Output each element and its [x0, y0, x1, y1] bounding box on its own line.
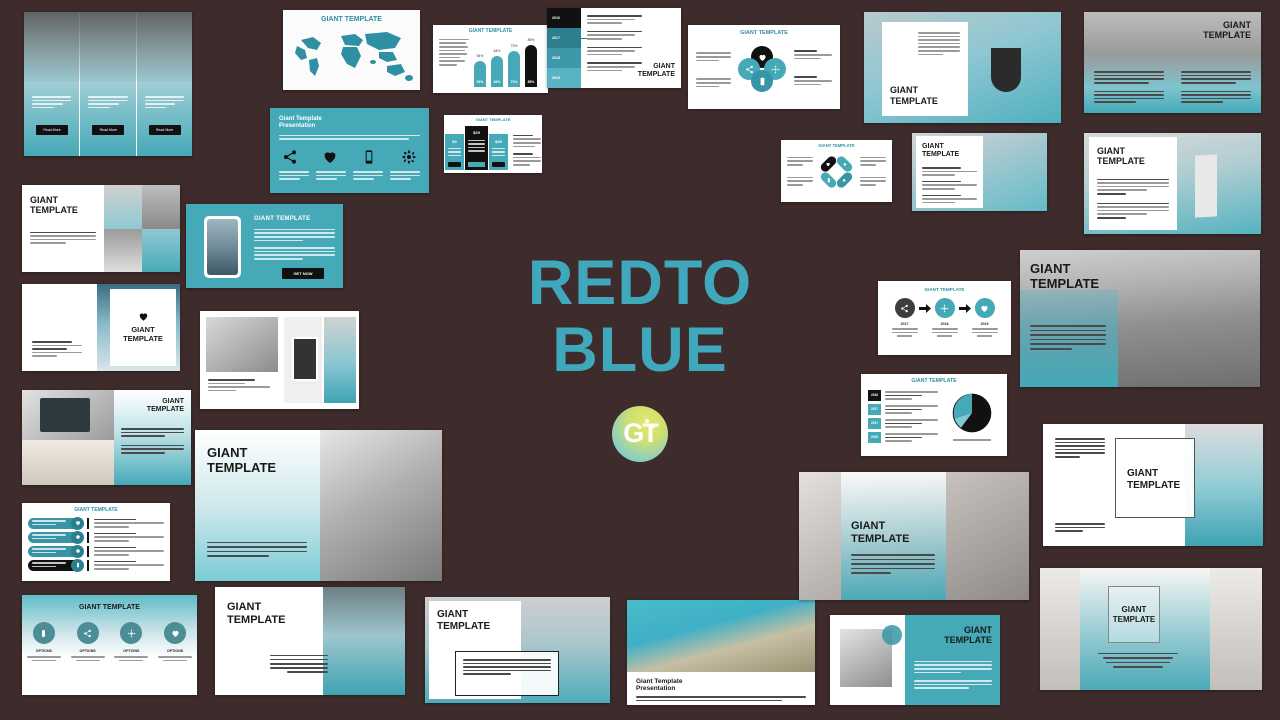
option-label: OPTIONS — [71, 649, 105, 653]
plan-button[interactable] — [492, 162, 505, 167]
slide-title-line1: GIANT — [1122, 605, 1147, 614]
legend-year: 2017 — [868, 418, 881, 429]
step-year: 2017 — [892, 322, 918, 326]
plan-price: $29 — [465, 130, 488, 135]
option-circle — [77, 622, 99, 644]
option-circle — [33, 622, 55, 644]
bar-item: 85% 85% — [525, 45, 537, 87]
bar-item: 54% 54% — [474, 61, 486, 87]
read-more-button[interactable]: Read More — [92, 125, 124, 135]
step-year: 2017 — [552, 36, 560, 40]
read-more-label: Read More — [100, 128, 117, 132]
slide-title-line2: TEMPLATE — [121, 406, 184, 414]
slide-x-diagram[interactable]: GIANT TEMPLATE — [781, 140, 892, 202]
slide-coast-photo[interactable]: GIANT TEMPLATE — [912, 133, 1047, 211]
gear-icon — [940, 304, 949, 313]
slide-title-line2: TEMPLATE — [1203, 30, 1251, 40]
slide-title-line1: GIANT — [227, 601, 285, 614]
option-circle — [120, 622, 142, 644]
gear-icon — [401, 149, 417, 165]
slide-title-line2: TEMPLATE — [227, 614, 285, 627]
hero-title-block: REDTO BLUE GT — [470, 250, 810, 462]
heart-icon — [758, 53, 767, 62]
heart-icon — [322, 149, 338, 165]
plan-button[interactable] — [468, 162, 485, 167]
option-label: OPTIONS — [27, 649, 61, 653]
heart-icon — [75, 520, 81, 526]
slide-title-line1: GIANT — [121, 398, 184, 406]
slide-title-line1: GIANT — [944, 625, 992, 635]
legend-year: 2017 — [868, 404, 881, 415]
slide-title-line2: TEMPLATE — [851, 533, 909, 546]
mobile-icon — [826, 177, 831, 182]
slide-swimmer-card[interactable]: GIANT TEMPLATE — [1043, 424, 1263, 546]
slide-title-line1: GIANT — [851, 520, 909, 533]
read-more-button[interactable]: Read More — [149, 125, 181, 135]
slide-title-line1: Giant Template — [279, 116, 420, 123]
slide-pie-chart[interactable]: GIANT TEMPLATE 2016 2017 2017 2018 — [861, 374, 1007, 456]
legend-year: 2016 — [868, 390, 881, 401]
slide-title-line1: GIANT — [922, 143, 977, 151]
slide-title: GIANT TEMPLATE — [878, 287, 1011, 292]
slide-title: GIANT TEMPLATE — [22, 595, 197, 612]
slide-iceberg[interactable]: GIANT TEMPLATE — [215, 587, 405, 695]
step-circle — [895, 298, 915, 318]
slide-title-line2: TEMPLATE — [207, 461, 276, 476]
slide-mountain-card[interactable]: GIANT TEMPLATE — [22, 284, 180, 371]
step-year: 2019 — [552, 76, 560, 80]
mobile-icon — [361, 149, 377, 165]
plan-price: $49 — [489, 139, 508, 144]
step-circle — [935, 298, 955, 318]
share-icon — [83, 629, 92, 638]
gear-icon — [771, 65, 780, 74]
pie-chart-icon — [949, 390, 995, 436]
slide-title-line2: Presentation — [279, 123, 420, 130]
slide-title-line2: TEMPLATE — [30, 205, 96, 215]
heart-icon — [138, 311, 149, 322]
read-more-button[interactable]: Read More — [36, 125, 68, 135]
slide-process-arrows[interactable]: GIANT TEMPLATE 2017 2018 — [878, 281, 1011, 355]
x-arm — [819, 170, 838, 189]
slide-world-map[interactable]: GIANT TEMPLATE — [283, 10, 420, 90]
gear-icon — [75, 534, 81, 540]
x-arm — [819, 154, 838, 173]
share-icon — [75, 548, 81, 554]
mobile-icon — [39, 629, 48, 638]
slide-title-line2: TEMPLATE — [890, 96, 938, 106]
slide-timeline-steps[interactable]: 2016 2017 2018 2019 GIANT TEMPLATE — [547, 8, 681, 88]
option-label: OPTIONS — [158, 649, 192, 653]
slide-tower-photo[interactable]: GIANT TEMPLATE — [1084, 133, 1261, 234]
plan-price: $9 — [445, 139, 464, 144]
slide-gallery-frames[interactable] — [200, 311, 359, 409]
arrow-right-icon — [919, 304, 931, 313]
option-label: OPTIONS — [114, 649, 148, 653]
share-icon — [900, 304, 909, 313]
slide-title: GIANT TEMPLATE — [444, 118, 542, 123]
read-more-label: Read More — [156, 128, 173, 132]
option-circle — [164, 622, 186, 644]
bar-item: 73% 73% — [508, 51, 520, 87]
slide-skyline-card[interactable]: GIANT TEMPLATE — [425, 597, 610, 703]
slide-title-line2: TEMPLATE — [1113, 615, 1156, 624]
legend-year: 2018 — [868, 432, 881, 443]
world-map-icon — [283, 26, 420, 86]
mobile-icon — [758, 77, 767, 86]
share-icon — [745, 65, 754, 74]
gear-icon — [842, 161, 847, 166]
slide-pricing-table[interactable]: GIANT TEMPLATE $9 $29 $49 — [444, 115, 542, 173]
heart-icon — [171, 629, 180, 638]
hero-line-2: BLUE — [470, 317, 810, 384]
slide-title-line1: GIANT — [1097, 146, 1169, 156]
arrow-right-icon — [959, 304, 971, 313]
slide-title-line2: TEMPLATE — [922, 151, 977, 159]
slide-title-line1: GIANT — [207, 446, 276, 461]
venn-circle — [751, 70, 773, 92]
slide-city-two-col[interactable]: GIANT TEMPLATE — [1084, 12, 1261, 113]
slide-title-line1: GIANT — [890, 85, 938, 95]
slide-title-line1: GIANT — [30, 195, 96, 205]
slide-four-icon-teal[interactable]: Giant Template Presentation — [270, 108, 429, 193]
heart-icon — [980, 304, 989, 313]
slide-title-line1: GIANT — [1030, 262, 1099, 277]
x-arm — [835, 170, 854, 189]
slide-title-line1: GIANT — [638, 63, 675, 71]
slide-photo-card-5[interactable]: GIANT TEMPLATE — [864, 12, 1061, 123]
bar-item: 64% 64% — [491, 56, 503, 87]
slide-venn-circles[interactable]: GIANT TEMPLATE — [688, 25, 840, 109]
step-year: 2018 — [552, 56, 560, 60]
slide-title-line2: TEMPLATE — [638, 71, 675, 79]
step-circle — [975, 298, 995, 318]
slide-title-line2: TEMPLATE — [944, 635, 992, 645]
slide-title-line1: Giant Template — [636, 678, 806, 685]
gear-icon — [127, 629, 136, 638]
slide-portrait-feature[interactable]: GIANT TEMPLATE — [195, 430, 442, 581]
slide-man-looking-up[interactable]: GIANT TEMPLATE — [799, 472, 1029, 600]
slide-title-line2: TEMPLATE — [123, 335, 163, 344]
get-now-label: GET NOW — [293, 271, 312, 276]
slide-title: GIANT TEMPLATE — [283, 16, 420, 24]
get-now-button[interactable]: GET NOW — [282, 268, 324, 279]
gt-logo: GT — [612, 406, 668, 462]
slide-binocular-photo[interactable]: Giant Template Presentation — [627, 600, 815, 705]
slide-bar-chart[interactable]: GIANT TEMPLATE 54% 54% 64% 64% 73% 73% — [433, 25, 548, 93]
slide-tablet-desk[interactable]: GIANT TEMPLATE — [22, 390, 191, 485]
slide-team-portraits[interactable]: Read More Read More Read More — [24, 12, 192, 156]
slide-phone-mockup[interactable]: GIANT TEMPLATE GET NOW — [186, 204, 343, 288]
slide-nyc-skyline[interactable]: GIANT TEMPLATE — [1020, 250, 1260, 387]
slide-title-line2: TEMPLATE — [1127, 480, 1180, 492]
slide-title-line2: TEMPLATE — [1030, 277, 1099, 292]
slide-collage-canvas: REDTO BLUE GT Read More R — [0, 0, 1280, 720]
slide-title-line1: GIANT — [1127, 468, 1180, 480]
slide-four-circles[interactable]: GIANT TEMPLATE OPTIONS OPTIONS — [22, 595, 197, 695]
slide-title-line2: Presentation — [636, 685, 806, 692]
heart-icon — [826, 161, 831, 166]
read-more-label: Read More — [43, 128, 60, 132]
step-year: 2018 — [932, 322, 958, 326]
step-year: 2019 — [972, 322, 998, 326]
plan-button[interactable] — [448, 162, 461, 167]
slide-icon-list[interactable]: GIANT TEMPLATE — [22, 503, 170, 581]
decorative-circle — [882, 625, 902, 645]
share-icon — [842, 177, 847, 182]
slide-title-line2: TEMPLATE — [437, 621, 513, 633]
slide-interior-frame[interactable]: GIANT TEMPLATE — [1040, 568, 1262, 690]
mobile-icon — [75, 562, 81, 568]
gt-logo-text: GT — [612, 406, 668, 462]
slide-title: GIANT TEMPLATE — [254, 216, 335, 223]
step-year: 2016 — [552, 16, 560, 20]
x-arm — [835, 154, 854, 173]
slide-title-line1: GIANT — [1203, 20, 1251, 30]
slide-title-line2: TEMPLATE — [1097, 156, 1169, 166]
hero-line-1: REDTO — [470, 250, 810, 317]
slide-title-line1: GIANT — [437, 609, 513, 621]
share-icon — [282, 149, 298, 165]
slide-photo-grid[interactable]: GIANT TEMPLATE — [22, 185, 180, 272]
slide-profile-teal[interactable]: GIANT TEMPLATE — [830, 615, 1000, 705]
